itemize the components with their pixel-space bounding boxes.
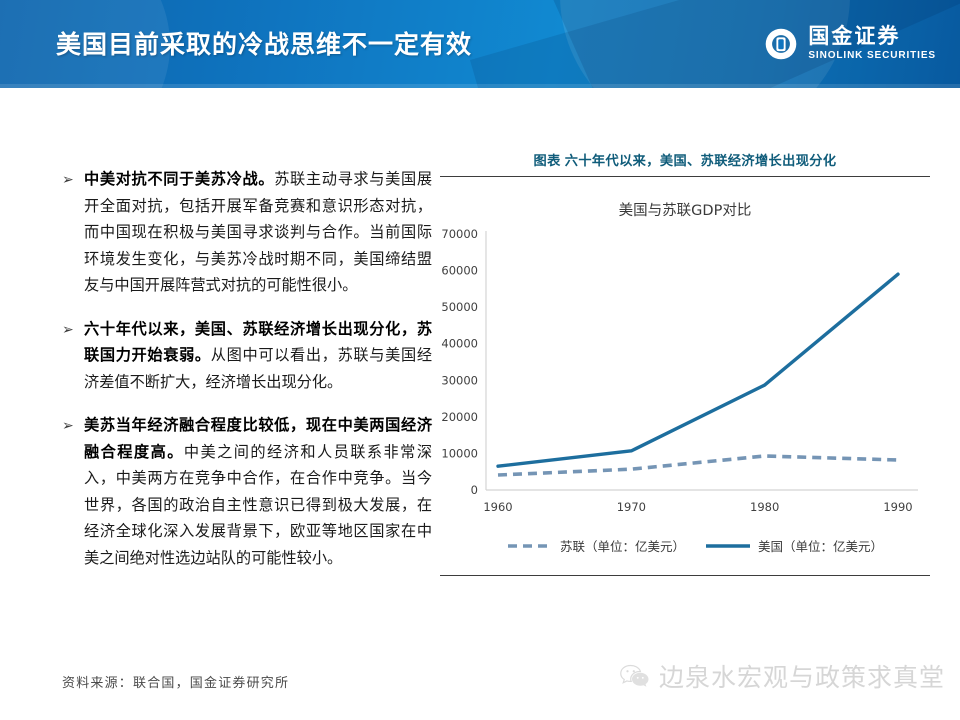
bullet-arrow-icon: ➢ xyxy=(62,317,74,344)
watermark-text: 边泉水宏观与政策求真堂 xyxy=(659,658,945,694)
slide-header: 美国目前采取的冷战思维不一定有效 国金证券 SINOLINK SECURITIE… xyxy=(0,0,960,88)
exhibit-title: 图表 六十年代以来，美国、苏联经济增长出现分化 xyxy=(440,150,930,176)
bullet-list: ➢ 中美对抗不同于美苏冷战。苏联主动寻求与美国展开全面对抗，包括开展军备竞赛和意… xyxy=(62,166,432,571)
list-item: ➢ 六十年代以来，美国、苏联经济增长出现分化，苏联国力开始衰弱。从图中可以看出，… xyxy=(62,316,432,396)
x-axis-tick-label: 1970 xyxy=(617,500,646,514)
bullet-body-text: 中美之间的经济和人员联系非常深入，中美两方在竞争中合作，在合作中竞争。当今世界，… xyxy=(84,443,432,567)
exhibit-bottom-rule xyxy=(440,575,930,576)
brand-logo: 国金证券 SINOLINK SECURITIES xyxy=(764,26,936,61)
exhibit-top-rule xyxy=(440,176,930,177)
bullet-lead-text: 中美对抗不同于美苏冷战。 xyxy=(84,170,274,188)
brand-name-en: SINOLINK SECURITIES xyxy=(808,51,936,61)
x-axis-tick-label: 1980 xyxy=(750,500,779,514)
header-bottom-rule xyxy=(0,84,960,88)
sinolink-circle-logo-icon xyxy=(764,27,798,61)
y-axis-tick-label: 30000 xyxy=(441,374,478,388)
y-axis-tick-label: 40000 xyxy=(441,337,478,351)
bullet-body-text: 苏联主动寻求与美国展开全面对抗，包括开展军备竞赛和意识形态对抗，而中国现在积极与… xyxy=(84,170,432,294)
series-line-2 xyxy=(498,275,898,467)
y-axis-tick-label: 10000 xyxy=(441,447,478,461)
brand-name-cn: 国金证券 xyxy=(808,26,936,47)
y-axis-tick-label: 20000 xyxy=(441,410,478,424)
slide-root: 美国目前采取的冷战思维不一定有效 国金证券 SINOLINK SECURITIE… xyxy=(0,0,960,720)
source-note: 资料来源：联合国，国金证券研究所 xyxy=(62,672,289,691)
legend-label-1: 苏联（单位：亿美元） xyxy=(560,539,685,554)
y-axis-tick-label: 60000 xyxy=(441,264,478,278)
list-item: ➢ 中美对抗不同于美苏冷战。苏联主动寻求与美国展开全面对抗，包括开展军备竞赛和意… xyxy=(62,166,432,299)
wechat-icon xyxy=(620,663,650,689)
list-item: ➢ 美苏当年经济融合程度比较低，现在中美两国经济融合程度高。中美之间的经济和人员… xyxy=(62,412,432,571)
chart-panel: 图表 六十年代以来，美国、苏联经济增长出现分化 美国与苏联GDP对比 01000… xyxy=(440,150,930,590)
legend-label-2: 美国（单位：亿美元） xyxy=(758,539,883,554)
y-axis-tick-label: 0 xyxy=(471,483,478,497)
chart-canvas: 0100002000030000400005000060000700001960… xyxy=(440,226,930,571)
page-title: 美国目前采取的冷战思维不一定有效 xyxy=(56,25,472,61)
bullet-arrow-icon: ➢ xyxy=(62,167,74,194)
chart-title: 美国与苏联GDP对比 xyxy=(440,199,930,220)
y-axis-tick-label: 70000 xyxy=(441,227,478,241)
y-axis-tick-label: 50000 xyxy=(441,301,478,315)
watermark: 边泉水宏观与政策求真堂 xyxy=(620,658,945,694)
x-axis-tick-label: 1960 xyxy=(483,500,512,514)
line-chart: 0100002000030000400005000060000700001960… xyxy=(440,226,930,571)
brand-logo-text: 国金证券 SINOLINK SECURITIES xyxy=(808,26,936,61)
bullet-arrow-icon: ➢ xyxy=(62,413,74,440)
x-axis-tick-label: 1990 xyxy=(883,500,912,514)
